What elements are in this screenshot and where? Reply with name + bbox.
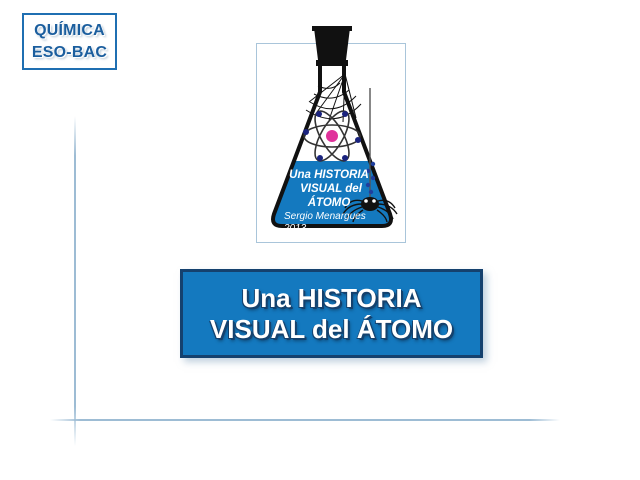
horizontal-accent-line — [50, 419, 560, 421]
svg-text:Sergio Menargues: Sergio Menargues — [284, 211, 366, 222]
slide-title-line-1: Una HISTORIA — [241, 283, 421, 313]
slide-title-line-2: VISUAL del ÁTOMO — [210, 314, 453, 344]
flask-image-frame: Una HISTORIA VISUAL del ÁTOMO Sergio Men… — [256, 43, 406, 243]
subject-badge: QUÍMICA ESO-BAC — [22, 13, 117, 70]
slide-title-banner: Una HISTORIA VISUAL del ÁTOMO — [180, 269, 483, 358]
vertical-accent-line — [74, 116, 76, 446]
erlenmeyer-flask-cover: Una HISTORIA VISUAL del ÁTOMO Sergio Men… — [257, 26, 407, 244]
flask-stopper — [314, 28, 350, 60]
stopper-top — [312, 26, 352, 31]
svg-text:ÁTOMO: ÁTOMO — [307, 196, 351, 209]
svg-text:2013: 2013 — [283, 223, 307, 234]
atom-nucleus — [326, 130, 338, 142]
presentation-slide: QUÍMICA ESO-BAC — [0, 0, 640, 480]
svg-text:VISUAL del: VISUAL del — [300, 183, 363, 195]
flask-rim — [316, 60, 348, 66]
subject-badge-line-1: QUÍMICA — [34, 20, 105, 42]
subject-badge-line-2: ESO-BAC — [32, 42, 107, 64]
svg-text:Una HISTORIA: Una HISTORIA — [289, 169, 369, 181]
